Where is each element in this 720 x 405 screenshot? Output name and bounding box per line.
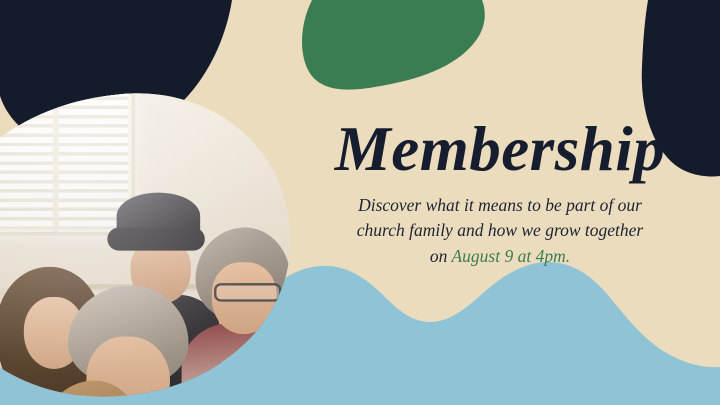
slide-canvas: Membership Discover what it means to be … (0, 0, 720, 405)
subtitle-line-1: Discover what it means to be part of our (358, 195, 642, 215)
page-title: Membership (300, 118, 700, 181)
subtitle-text: Discover what it means to be part of our… (300, 193, 700, 269)
photo-image (0, 78, 305, 405)
subtitle-line-3-prefix: on (430, 246, 448, 266)
text-block: Membership Discover what it means to be … (300, 118, 700, 269)
photo-blob (0, 78, 305, 405)
photo-color-grade (0, 78, 305, 405)
grandmother-jacket (140, 397, 305, 405)
green-blob-top-center (302, 0, 485, 90)
event-date-text: August 9 at 4pm. (451, 246, 570, 266)
subtitle-line-2: church family and how we grow together (357, 220, 643, 240)
